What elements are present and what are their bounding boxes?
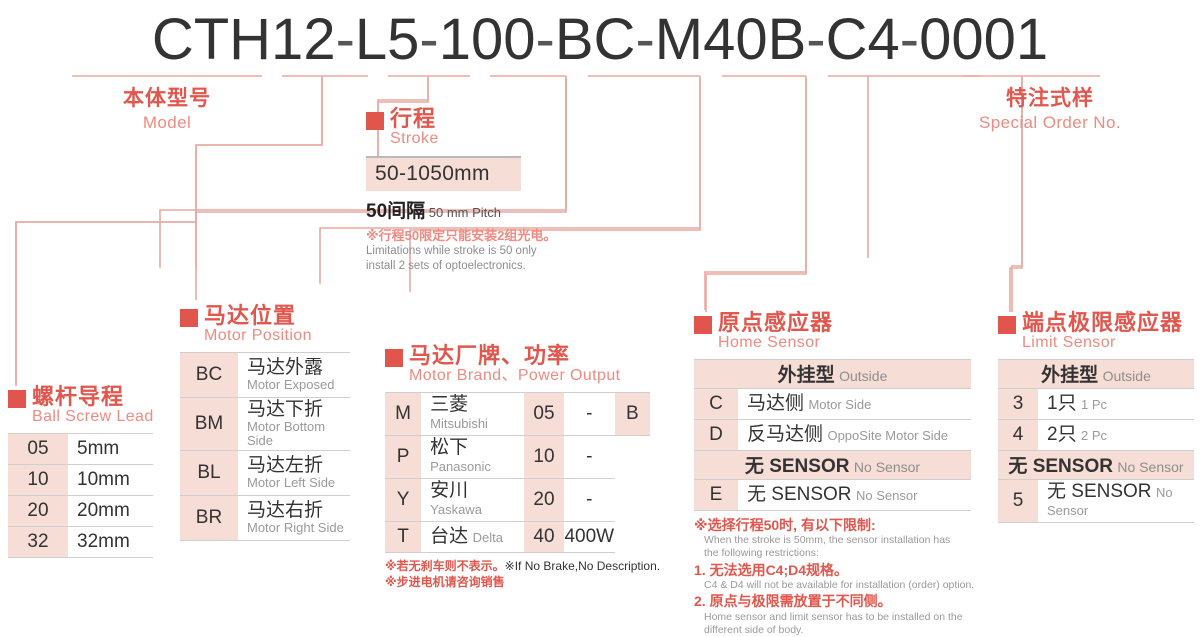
- row-code: 10: [8, 464, 68, 495]
- table-row: BC马达外露Motor Exposed: [180, 352, 350, 397]
- row-brake-empty: [615, 521, 650, 552]
- row-code: P: [385, 435, 421, 478]
- row-value: 无 SENSOR No Sensor: [738, 479, 971, 510]
- section-home-sensor: 原点感应器 Home Sensor 外挂型 OutsideC马达侧 Motor …: [694, 312, 994, 637]
- code-segment-stroke: 100: [439, 7, 536, 72]
- motor-brand-table: M三菱 Mitsubishi05-BP松下 Panasonic10-Y安川 Ya…: [385, 392, 650, 553]
- code-segment-motor-brand: M40B: [655, 7, 807, 72]
- home-sensor-warn-item-1-cn: 1. 无法选用C4;D4规格。: [694, 562, 994, 580]
- row-power: -: [564, 478, 615, 521]
- row-code: C: [694, 388, 738, 419]
- row-code: M: [385, 392, 421, 435]
- code-segment-lead: L5: [355, 7, 420, 72]
- row-code: T: [385, 521, 421, 552]
- limit-sensor-label-en: Limit Sensor: [1022, 335, 1183, 351]
- limit-sensor-marker-icon: [998, 316, 1016, 334]
- home-sensor-restrictions: ※选择行程50时, 有以下限制: When the stroke is 50mm…: [694, 517, 994, 637]
- row-code: 20: [8, 495, 68, 526]
- special-order-label-en: Special Order No.: [940, 113, 1160, 133]
- table-row: 42只 2 Pc: [998, 419, 1194, 450]
- table-row: BR马达右折Motor Right Side: [180, 495, 350, 540]
- stroke-label-cn: 行程: [390, 108, 439, 130]
- row-power: 400W: [564, 521, 615, 552]
- row-value: 1只 1 Pc: [1038, 388, 1194, 419]
- row-value: 马达右折Motor Right Side: [238, 495, 350, 540]
- special-order-label-cn: 特注式样: [940, 82, 1160, 112]
- row-power-code: 05: [524, 392, 564, 435]
- table-row: 2020mm: [8, 495, 153, 526]
- band-no-sensor: 无 SENSOR No Sensor: [998, 450, 1194, 479]
- row-brake: B: [615, 392, 650, 435]
- stroke-pitch: 50间隔 50 mm Pitch: [366, 196, 556, 223]
- stroke-marker-icon: [366, 112, 384, 130]
- row-brand: 松下 Panasonic: [421, 435, 524, 478]
- row-code: 32: [8, 526, 68, 557]
- limit-sensor-table: 外挂型 Outside31只 1 Pc42只 2 Pc无 SENSOR No S…: [998, 359, 1194, 523]
- row-power: -: [564, 392, 615, 435]
- model-label-cn: 本体型号: [72, 82, 262, 112]
- home-sensor-warn-item-2-cn: 2. 原点与极限需放置于不同侧。: [694, 593, 994, 611]
- home-sensor-warn-item-2-en-2: different side of body.: [694, 624, 994, 637]
- table-row: M三菱 Mitsubishi05-B: [385, 392, 650, 435]
- home-sensor-label-en: Home Sensor: [718, 335, 833, 351]
- ball-screw-lead-table: 055mm1010mm2020mm3232mm: [8, 433, 153, 558]
- stroke-label-en: Stroke: [390, 131, 439, 147]
- row-code: BM: [180, 397, 238, 450]
- row-value: 2只 2 Pc: [1038, 419, 1194, 450]
- home-sensor-warn-title-en-1: When the stroke is 50mm, the sensor inst…: [694, 534, 994, 547]
- row-value: 5mm: [68, 433, 153, 464]
- table-row: BL马达左折Motor Left Side: [180, 450, 350, 495]
- model-label-en: Model: [72, 113, 262, 133]
- code-segment-home-sensor: C4: [826, 7, 900, 72]
- row-value: 20mm: [68, 495, 153, 526]
- code-dash: -: [536, 7, 555, 72]
- row-code: 3: [998, 388, 1038, 419]
- stroke-note-en-2: install 2 sets of optoelectronics.: [366, 259, 556, 274]
- row-code: 05: [8, 433, 68, 464]
- table-row: 055mm: [8, 433, 153, 464]
- limit-sensor-label-cn: 端点极限感应器: [1022, 312, 1183, 334]
- code-segment-motor-position: BC: [555, 7, 636, 72]
- home-sensor-table: 外挂型 OutsideC马达侧 Motor SideD反马达侧 OppoSite…: [694, 359, 971, 511]
- row-brand: 安川 Yaskawa: [421, 478, 524, 521]
- table-row: T台达 Delta40400W: [385, 521, 650, 552]
- code-dash: -: [806, 7, 825, 72]
- stroke-note-en-1: Limitations while stroke is 50 only: [366, 244, 556, 259]
- stroke-range-value: 50-1050mm: [366, 156, 521, 191]
- section-limit-sensor: 端点极限感应器 Limit Sensor 外挂型 Outside31只 1 Pc…: [998, 312, 1194, 523]
- code-segment-special-order: 0001: [919, 7, 1048, 72]
- row-code: E: [694, 479, 738, 510]
- home-sensor-marker-icon: [694, 316, 712, 334]
- row-value: 无 SENSOR No Sensor: [1038, 479, 1194, 522]
- band-no-sensor: 无 SENSOR No Sensor: [694, 450, 971, 479]
- row-value: 反马达侧 OppoSite Motor Side: [738, 419, 971, 450]
- table-row: 3232mm: [8, 526, 153, 557]
- table-row: C马达侧 Motor Side: [694, 388, 971, 419]
- row-value: 马达侧 Motor Side: [738, 388, 971, 419]
- motor-position-label-en: Motor Position: [204, 328, 312, 344]
- row-value: 马达外露Motor Exposed: [238, 352, 350, 397]
- row-code: BL: [180, 450, 238, 495]
- code-dash: -: [336, 7, 355, 72]
- motor-brand-label-cn: 马达厂牌、功率: [409, 345, 620, 367]
- motor-position-label-cn: 马达位置: [204, 305, 312, 327]
- band-outside: 外挂型 Outside: [998, 359, 1194, 388]
- motor-position-table: BC马达外露Motor ExposedBM马达下折Motor Bottom Si…: [180, 352, 350, 541]
- table-row: Y安川 Yaskawa20-: [385, 478, 650, 521]
- stroke-pitch-en: 50 mm Pitch: [429, 205, 501, 220]
- row-power-code: 10: [524, 435, 564, 478]
- home-sensor-warn-item-2-en: Home sensor and limit sensor has to be i…: [694, 611, 994, 624]
- section-motor-position: 马达位置 Motor Position BC马达外露Motor ExposedB…: [180, 305, 350, 541]
- code-segment-model: CTH12: [152, 7, 336, 72]
- table-band-row: 无 SENSOR No Sensor: [998, 450, 1194, 479]
- row-code: BR: [180, 495, 238, 540]
- table-band-row: 无 SENSOR No Sensor: [694, 450, 971, 479]
- row-brand: 三菱 Mitsubishi: [421, 392, 524, 435]
- row-code: Y: [385, 478, 421, 521]
- row-value: 马达下折Motor Bottom Side: [238, 397, 350, 450]
- row-power-code: 20: [524, 478, 564, 521]
- table-band-row: 外挂型 Outside: [694, 359, 971, 388]
- motor-brand-marker-icon: [385, 349, 403, 367]
- table-row: 31只 1 Pc: [998, 388, 1194, 419]
- table-row: BM马达下折Motor Bottom Side: [180, 397, 350, 450]
- ball-screw-lead-label-en: Ball Screw Lead: [32, 409, 154, 425]
- code-dash: -: [900, 7, 919, 72]
- row-value: 10mm: [68, 464, 153, 495]
- stroke-note-cn: ※行程50限定只能安装2组光电。: [366, 228, 556, 244]
- row-code: BC: [180, 352, 238, 397]
- row-code: 5: [998, 479, 1038, 522]
- home-sensor-warn-title-cn: ※选择行程50时, 有以下限制:: [694, 517, 994, 535]
- motor-brand-note2-cn: ※步进电机请咨询销售: [385, 574, 660, 590]
- ball-screw-lead-marker-icon: [8, 390, 26, 408]
- table-row: P松下 Panasonic10-: [385, 435, 650, 478]
- table-row: 5无 SENSOR No Sensor: [998, 479, 1194, 522]
- row-brake-empty: [615, 435, 650, 478]
- section-motor-brand: 马达厂牌、功率 Motor Brand、Power Output M三菱 Mit…: [385, 345, 660, 590]
- row-value: 32mm: [68, 526, 153, 557]
- row-value: 马达左折Motor Left Side: [238, 450, 350, 495]
- motor-brand-note1-en: ※If No Brake,No Description.: [505, 559, 660, 573]
- table-row: 1010mm: [8, 464, 153, 495]
- home-sensor-warn-item-1-en: C4 & D4 will not be available for instal…: [694, 579, 994, 592]
- model-code: CTH12-L5-100-BC-M40B-C4-0001: [0, 6, 1200, 73]
- home-sensor-warn-title-en-2: the following restrictions:: [694, 547, 994, 560]
- stroke-pitch-cn: 50间隔: [366, 201, 425, 222]
- table-row: E无 SENSOR No Sensor: [694, 479, 971, 510]
- row-brand: 台达 Delta: [421, 521, 524, 552]
- code-dash: -: [635, 7, 654, 72]
- motor-brand-note1-cn: ※若无刹车则不表示。: [385, 559, 505, 573]
- row-power-code: 40: [524, 521, 564, 552]
- section-ball-screw-lead: 螺杆导程 Ball Screw Lead 055mm1010mm2020mm32…: [8, 386, 154, 558]
- table-row: D反马达侧 OppoSite Motor Side: [694, 419, 971, 450]
- motor-brand-label-en: Motor Brand、Power Output: [409, 368, 620, 384]
- motor-position-marker-icon: [180, 309, 198, 327]
- section-special-order: 特注式样 Special Order No.: [940, 82, 1160, 133]
- table-band-row: 外挂型 Outside: [998, 359, 1194, 388]
- section-stroke: 行程 Stroke 50-1050mm 50间隔 50 mm Pitch ※行程…: [366, 108, 556, 274]
- row-brake-empty: [615, 478, 650, 521]
- motor-brand-notes: ※若无刹车则不表示。※If No Brake,No Description. ※…: [385, 558, 660, 590]
- home-sensor-label-cn: 原点感应器: [718, 312, 833, 334]
- row-power: -: [564, 435, 615, 478]
- band-outside: 外挂型 Outside: [694, 359, 971, 388]
- row-code: 4: [998, 419, 1038, 450]
- ball-screw-lead-label-cn: 螺杆导程: [32, 386, 154, 408]
- row-code: D: [694, 419, 738, 450]
- code-dash: -: [419, 7, 438, 72]
- section-model: 本体型号 Model: [72, 82, 262, 133]
